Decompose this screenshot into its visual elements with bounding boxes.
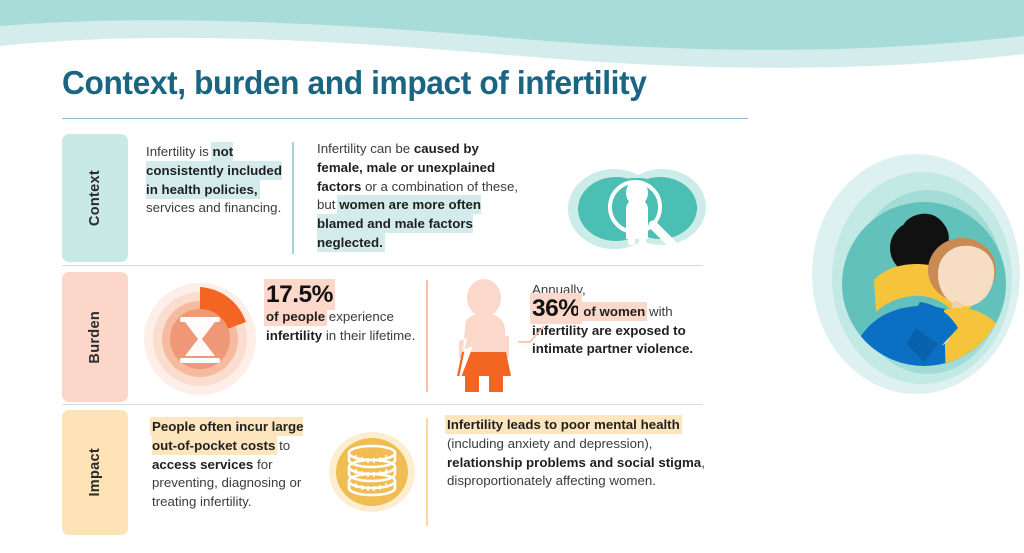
title-underline-rule xyxy=(62,118,748,119)
bdn-t1-p0: of people xyxy=(266,309,325,324)
page-title-text: Context, burden and impact of infertilit… xyxy=(62,64,734,102)
bdn-t2-p0: of women xyxy=(580,304,646,319)
row-divider-context-burden xyxy=(62,265,703,266)
burden-stat-36-percent: 36% xyxy=(532,295,580,322)
ctx-t2-p3: women are more often blamed and male fac… xyxy=(317,197,481,250)
context-text-block-1: Infertility is not consistently included… xyxy=(146,143,286,218)
person-magnifier-icon xyxy=(562,165,712,253)
context-text-block-2: Infertility can be caused by female, mal… xyxy=(317,140,522,253)
row-context: Context Infertility is not consistently … xyxy=(62,134,707,262)
category-label-burden-text: Burden xyxy=(87,311,103,364)
bdn-t1-p1: experience xyxy=(325,309,394,324)
bdn-t1-p3: in their lifetime. xyxy=(322,328,415,343)
row-burden: Burden 17.5% of people experience infert… xyxy=(62,272,707,402)
column-separator-burden xyxy=(426,280,428,392)
burden-text-block-1: 17.5% of people experience infertility i… xyxy=(266,286,426,345)
woman-violence-figure-icon xyxy=(440,276,525,394)
imp-t2-p0: Infertility leads to poor mental health xyxy=(447,417,680,432)
coin-stack-icon xyxy=(327,428,417,516)
decorative-wave-band xyxy=(0,0,1024,72)
figure-legs xyxy=(465,374,503,392)
hourglass-donut-chart-icon xyxy=(140,277,264,397)
bdn-t1-p2: infertility xyxy=(266,328,322,343)
category-label-impact-text: Impact xyxy=(87,448,103,497)
ctx-t1-p2: services and financing. xyxy=(146,200,281,215)
column-separator-impact xyxy=(426,418,428,526)
row-divider-burden-impact xyxy=(62,404,703,405)
impact-text-block-2: Infertility leads to poor mental health … xyxy=(447,416,705,491)
row-impact: Impact People often incur large out-of-p… xyxy=(62,410,707,535)
imp-t2-p1: (including anxiety and depression), xyxy=(447,436,653,451)
category-label-impact: Impact xyxy=(62,410,128,535)
category-label-context: Context xyxy=(62,134,128,262)
bdn-t2-p2: infertility are exposed to intimate part… xyxy=(532,323,693,357)
ctx-t2-p0: Infertility can be xyxy=(317,141,414,156)
slide-canvas: Context, burden and impact of infertilit… xyxy=(0,0,1024,553)
impact-text-block-1: People often incur large out-of-pocket c… xyxy=(152,418,330,512)
ctx-t1-p0: Infertility is xyxy=(146,144,213,159)
bdn-t2-p1: with xyxy=(645,304,672,319)
category-label-burden: Burden xyxy=(62,272,128,402)
two-people-embracing-illustration xyxy=(812,152,1024,404)
wave-top-shape xyxy=(0,0,1024,66)
imp-t1-p1: to xyxy=(275,438,290,453)
category-label-context-text: Context xyxy=(87,170,103,226)
column-separator-context xyxy=(292,142,294,254)
burden-stat-17-5-percent: 17.5% xyxy=(266,281,333,308)
page-title: Context, burden and impact of infertilit… xyxy=(62,64,762,102)
imp-t2-p2: relationship problems and social stigma xyxy=(447,455,701,470)
person-glyph xyxy=(626,181,648,246)
burden-text-block-2: Annually, 36% of women with infertility … xyxy=(532,281,707,359)
imp-t1-p2: access services xyxy=(152,457,253,472)
